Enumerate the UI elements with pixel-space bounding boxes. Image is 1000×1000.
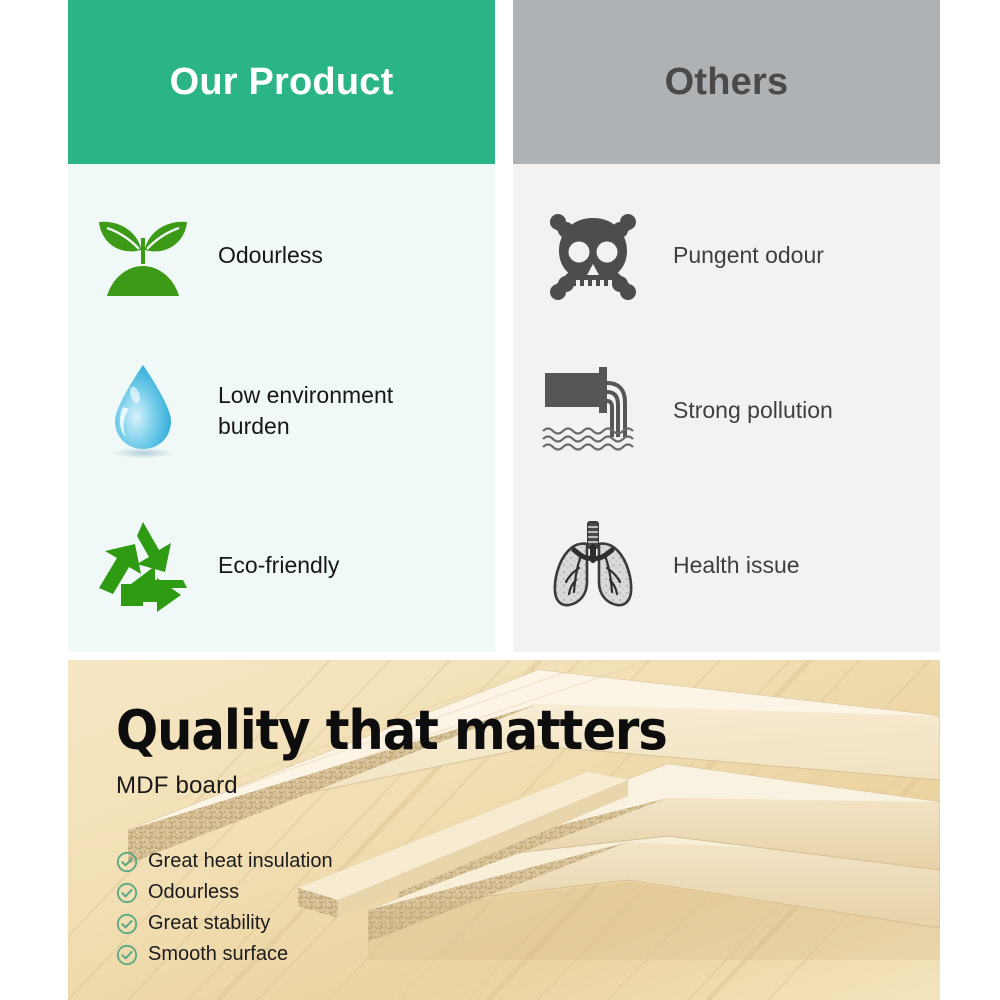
list-item-label: Odourless bbox=[148, 881, 239, 904]
feature-label: Pungent odour bbox=[673, 240, 838, 270]
quality-banner: Quality that matters MDF board Great hea… bbox=[68, 660, 940, 1000]
check-circle-icon bbox=[116, 882, 138, 904]
banner-title: Quality that matters bbox=[116, 704, 874, 758]
our-product-header: Our Product bbox=[68, 0, 495, 164]
list-item-label: Great stability bbox=[148, 912, 270, 935]
others-feature-list: Pungent odour bbox=[513, 164, 940, 652]
list-item: Smooth surface bbox=[116, 939, 940, 970]
recycle-icon bbox=[68, 514, 218, 618]
banner-subtitle: MDF board bbox=[116, 772, 940, 800]
list-item-label: Great heat insulation bbox=[148, 850, 333, 873]
list-item: Great stability bbox=[116, 908, 940, 939]
column-our-product: Our Product Odourless bbox=[68, 0, 495, 652]
feature-label: Health issue bbox=[673, 550, 814, 580]
others-header: Others bbox=[513, 0, 940, 164]
feature-label: Low environment burden bbox=[218, 380, 468, 441]
check-circle-icon bbox=[116, 851, 138, 873]
feature-row: Low environment burden bbox=[68, 333, 495, 488]
feature-row: Odourless bbox=[68, 178, 495, 333]
check-circle-icon bbox=[116, 944, 138, 966]
lungs-icon bbox=[513, 514, 673, 618]
column-others: Others bbox=[513, 0, 940, 652]
check-circle-icon bbox=[116, 913, 138, 935]
feature-checklist: Great heat insulation Odourless Great st… bbox=[116, 846, 940, 970]
our-product-title: Our Product bbox=[170, 61, 394, 104]
product-comparison-infographic: Our Product Odourless bbox=[0, 0, 1000, 1000]
skull-crossbones-icon bbox=[513, 204, 673, 308]
list-item: Great heat insulation bbox=[116, 846, 940, 877]
water-drop-icon bbox=[68, 359, 218, 463]
feature-label: Strong pollution bbox=[673, 395, 847, 425]
our-product-feature-list: Odourless bbox=[68, 164, 495, 652]
list-item: Odourless bbox=[116, 877, 940, 908]
plant-sprout-icon bbox=[68, 204, 218, 308]
feature-label: Eco-friendly bbox=[218, 550, 353, 580]
feature-row: Pungent odour bbox=[513, 178, 940, 333]
comparison-section: Our Product Odourless bbox=[68, 0, 940, 652]
list-item-label: Smooth surface bbox=[148, 943, 288, 966]
feature-row: Strong pollution bbox=[513, 333, 940, 488]
feature-row: Eco-friendly bbox=[68, 488, 495, 643]
banner-content: Quality that matters MDF board Great hea… bbox=[68, 660, 940, 970]
feature-row: Health issue bbox=[513, 488, 940, 643]
pollution-pipe-icon bbox=[513, 359, 673, 463]
others-title: Others bbox=[665, 61, 789, 104]
feature-label: Odourless bbox=[218, 240, 337, 270]
